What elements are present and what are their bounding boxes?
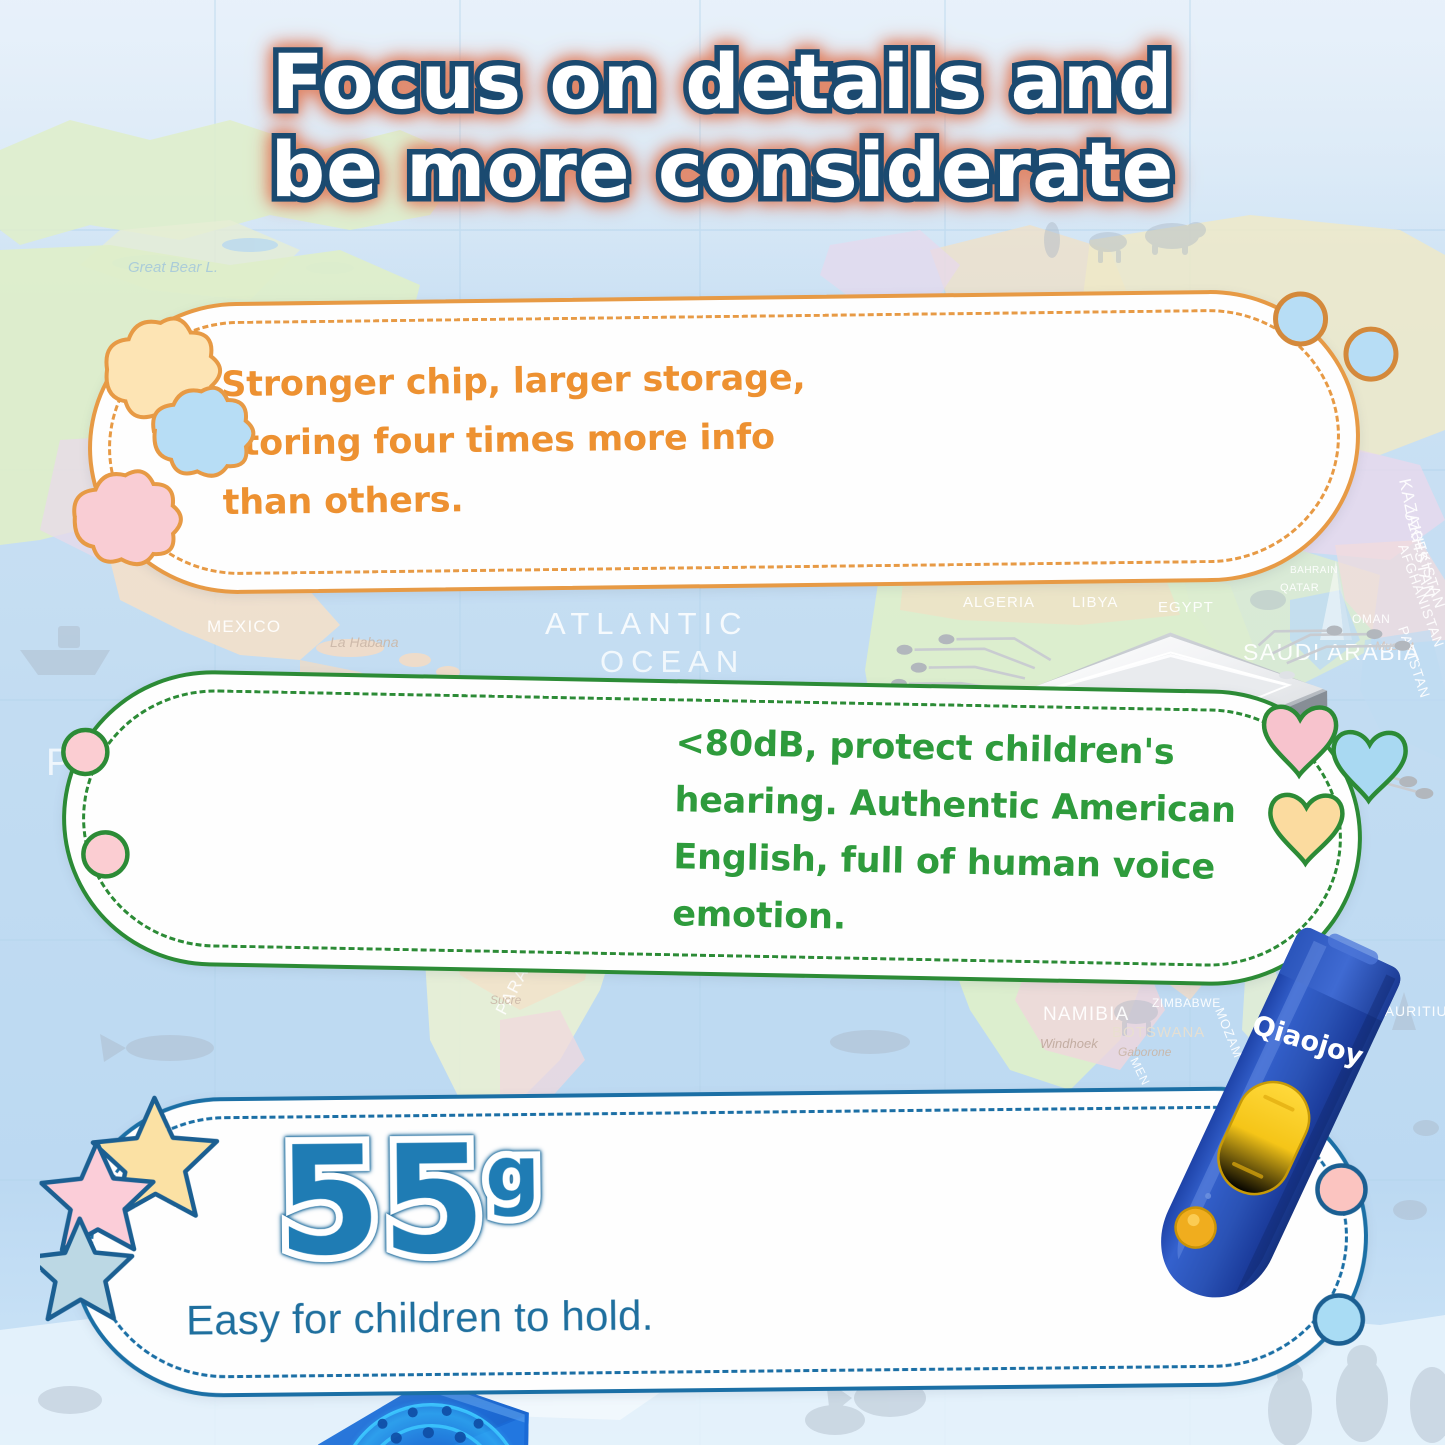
infographic-stage: Great Bear L. MEXICO ATLANTIC OCEAN La H… [0, 0, 1445, 1445]
cloud-pink [74, 471, 182, 565]
title-line-1: Focus on details and [0, 38, 1445, 126]
weight-number: 55 [276, 1113, 487, 1289]
title-line-2: be more considerate [0, 126, 1445, 214]
circle-pink-1 [63, 730, 108, 775]
svg-text:Sucre: Sucre [490, 993, 522, 1007]
svg-text:NAMIBIA: NAMIBIA [1043, 1004, 1130, 1025]
feature-card-chip: Stronger chip, larger storage, storing f… [86, 288, 1361, 596]
svg-text:OCEAN: OCEAN [600, 644, 745, 679]
svg-text:ALGERIA: ALGERIA [963, 594, 1035, 611]
svg-text:Great Bear L.: Great Bear L. [128, 259, 218, 276]
circle-decor-group-left [42, 711, 166, 913]
heart-pink [1263, 706, 1336, 776]
weight-value: 55g [243, 1120, 575, 1283]
svg-text:MEXICO: MEXICO [207, 617, 281, 636]
svg-text:La Habana: La Habana [330, 634, 399, 650]
circle-blue-1 [1275, 294, 1326, 345]
circle-decor-group-right [1252, 265, 1433, 387]
heart-decor-group-right [1243, 682, 1445, 906]
cloud-decor-group-left [46, 297, 300, 610]
circle-blue-2 [1346, 329, 1397, 380]
svg-text:ATLANTIC: ATLANTIC [545, 606, 749, 641]
circle-pink-2 [83, 832, 128, 877]
card-chip-text: Stronger chip, larger storage, storing f… [221, 349, 833, 533]
weight-unit: g [485, 1129, 540, 1219]
star-decor-group-left [38, 1079, 291, 1342]
svg-text:QATAR: QATAR [1280, 582, 1319, 594]
svg-text:LIBYA: LIBYA [1072, 594, 1118, 611]
svg-text:Windhoek: Windhoek [1040, 1036, 1099, 1051]
reading-pen-image: Qiaojoy [1120, 905, 1420, 1335]
heart-yellow [1269, 795, 1342, 865]
page-title: Focus on details and be more considerate [0, 38, 1445, 214]
svg-text:BAHRAIN: BAHRAIN [1290, 565, 1338, 576]
heart-blue [1333, 732, 1406, 802]
